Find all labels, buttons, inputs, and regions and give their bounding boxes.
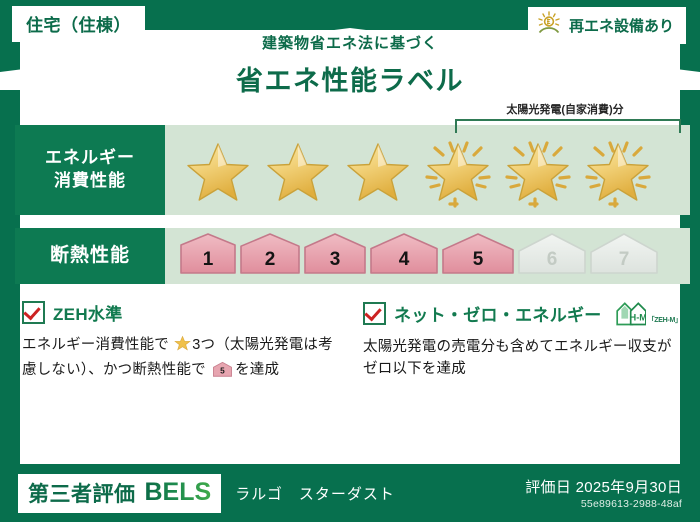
insulation-grade-badge-value: 5 xyxy=(220,367,225,376)
solar-bracket xyxy=(455,119,681,133)
footer-meta: 評価日 2025年9月30日 55e89613-2988-48af xyxy=(525,476,682,510)
insulation-grade-badge: 5 xyxy=(212,361,233,385)
insulation-grade-active: 5 xyxy=(441,232,515,281)
insulation-grade-value: 4 xyxy=(399,249,410,270)
energy-performance-row: エネルギー 消費性能 太陽光発電(自家消費)分 xyxy=(15,125,690,215)
insulation-grade-value: 2 xyxy=(265,249,276,270)
star-rating xyxy=(165,131,657,209)
housing-type-badge: 住宅（住棟） xyxy=(12,6,145,42)
insulation-grade-value: 1 xyxy=(203,249,214,270)
insulation-grade-value: 6 xyxy=(547,249,558,270)
page-title: 省エネ性能ラベル xyxy=(0,59,700,98)
insulation-grade-active: 1 xyxy=(179,232,237,281)
zeh-m-logo: H-M 「ZEH-M」 xyxy=(612,300,682,327)
star-icon-solar xyxy=(579,131,657,209)
renewable-equipment-badge: 再エネ設備あり xyxy=(528,7,686,44)
svg-text:H-M: H-M xyxy=(629,312,645,322)
insulation-grade-value: 7 xyxy=(619,249,630,270)
feature-net-zero-title: ネット・ゼロ・エネルギー xyxy=(394,301,602,326)
feature-net-zero-body: 太陽光発電の売電分も含めてエネルギー収支がゼロ以下を達成 xyxy=(363,336,686,381)
feature-net-zero-header: ネット・ゼロ・エネルギー H-M 「ZEH-M」 xyxy=(363,300,686,327)
feature-zeh-body: エネルギー消費性能で 3つ（太陽光発電は考慮しない）、かつ断熱性能で 5 を達成 xyxy=(22,334,345,386)
feature-net-zero: ネット・ゼロ・エネルギー H-M 「ZEH-M」 太陽光発電の売電分も含めてエネ… xyxy=(363,300,686,386)
zeh-m-house-icon: H-M xyxy=(612,300,646,327)
features-section: ZEH水準 エネルギー消費性能で 3つ（太陽光発電は考慮しない）、かつ断熱性能で… xyxy=(22,300,686,386)
star-icon xyxy=(174,335,191,359)
insulation-row-label: 断熱性能 xyxy=(15,228,165,284)
insulation-row-body: 1234567 xyxy=(165,228,690,284)
sun-icon xyxy=(536,11,562,39)
insulation-grade-active: 2 xyxy=(239,232,301,281)
feature-zeh-text-1: エネルギー消費性能で xyxy=(22,337,169,353)
evaluation-id: 55e89613-2988-48af xyxy=(525,498,682,510)
insulation-grade-active: 3 xyxy=(303,232,367,281)
evaluation-date: 評価日 2025年9月30日 xyxy=(525,476,682,497)
energy-row-body: 太陽光発電(自家消費)分 xyxy=(165,125,690,215)
energy-label-line1: エネルギー xyxy=(45,147,135,170)
insulation-grade-scale: 1234567 xyxy=(165,232,659,281)
feature-zeh: ZEH水準 エネルギー消費性能で 3つ（太陽光発電は考慮しない）、かつ断熱性能で… xyxy=(22,300,345,386)
bels-jp-label: 第三者評価 xyxy=(28,478,136,508)
bels-en-label: BELS xyxy=(145,478,212,507)
renewable-badge-label: 再エネ設備あり xyxy=(569,15,674,36)
feature-zeh-header: ZEH水準 xyxy=(22,300,345,325)
energy-row-label: エネルギー 消費性能 xyxy=(15,125,165,215)
insulation-grade-value: 3 xyxy=(330,249,341,270)
star-icon xyxy=(259,131,337,209)
check-icon xyxy=(363,302,386,325)
insulation-grade-active: 4 xyxy=(369,232,439,281)
energy-label-line2: 消費性能 xyxy=(54,170,126,193)
project-name: ラルゴ スターダスト xyxy=(235,483,395,504)
footer-bar: 第三者評価 BELS ラルゴ スターダスト 評価日 2025年9月30日 55e… xyxy=(0,464,700,522)
feature-zeh-title: ZEH水準 xyxy=(53,300,123,325)
insulation-performance-row: 断熱性能 1234567 xyxy=(15,228,690,284)
solar-annotation-label: 太陽光発電(自家消費)分 xyxy=(450,101,680,117)
bels-badge: 第三者評価 BELS xyxy=(18,474,221,513)
star-icon-solar xyxy=(499,131,577,209)
feature-zeh-text-3: を達成 xyxy=(235,362,279,378)
star-icon xyxy=(179,131,257,209)
housing-type-label: 住宅（住棟） xyxy=(26,16,131,35)
zeh-m-logo-tag: 「ZEH-M」 xyxy=(648,315,682,327)
star-icon-solar xyxy=(419,131,497,209)
check-icon xyxy=(22,301,45,324)
insulation-grade-value: 5 xyxy=(473,249,484,270)
insulation-grade-inactive: 7 xyxy=(589,232,659,281)
star-icon xyxy=(339,131,417,209)
insulation-grade-inactive: 6 xyxy=(517,232,587,281)
energy-performance-label: 住宅（住棟） 再エネ設備あり 建築物省エネ法 xyxy=(0,0,700,522)
insulation-label: 断熱性能 xyxy=(50,243,130,269)
